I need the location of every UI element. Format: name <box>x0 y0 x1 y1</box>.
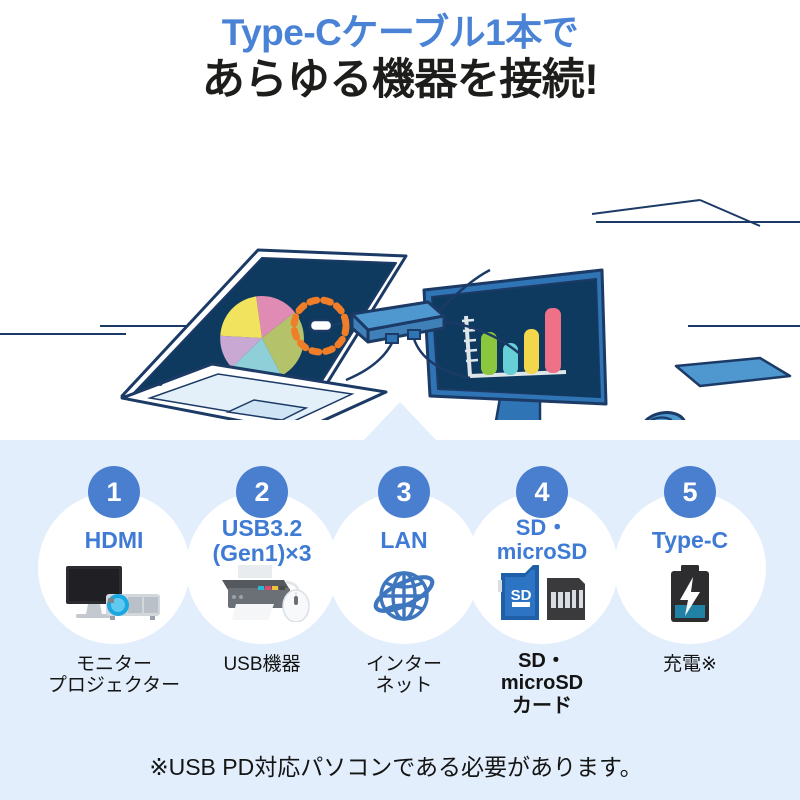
feature-caption-line: 充電※ <box>600 654 780 675</box>
feature-title-line: HDMI <box>38 528 190 553</box>
feature-usb[interactable]: 2 USB3.2 (Gen1)×3 <box>186 466 338 648</box>
sd-microsd-card-icon: SD <box>495 564 589 627</box>
feature-caption-line: microSD <box>452 672 632 694</box>
feature-caption-line: カード <box>452 695 632 717</box>
feature-title-line: SD・ <box>466 516 618 540</box>
feature-title-line: LAN <box>328 528 480 553</box>
feature-number-badge: 4 <box>516 466 568 518</box>
feature-title: USB3.2 (Gen1)×3 <box>186 516 338 566</box>
headline-line-2: あらゆる機器を接続! <box>0 59 800 102</box>
feature-number-badge: 1 <box>88 466 140 518</box>
feature-title: HDMI <box>38 528 190 553</box>
panel-notch-triangle <box>364 402 436 440</box>
printer-mouse-icon <box>212 564 312 627</box>
feature-caption-line: プロジェクター <box>24 675 204 696</box>
globe-network-icon <box>367 564 441 631</box>
feature-number-badge: 3 <box>378 466 430 518</box>
feature-title: SD・ microSD <box>466 516 618 564</box>
battery-charging-icon <box>662 564 718 629</box>
monitor-projector-icon <box>62 564 166 627</box>
feature-number-badge: 5 <box>664 466 716 518</box>
feature-title-line: (Gen1)×3 <box>186 541 338 566</box>
feature-title-line: USB3.2 <box>186 516 338 541</box>
feature-title: Type-C <box>614 528 766 553</box>
feature-lan[interactable]: 3 LAN インター ネット <box>328 466 480 648</box>
footnote-text: ※USB PD対応パソコンである必要があります。 <box>149 754 650 780</box>
feature-caption: 充電※ <box>600 654 780 675</box>
feature-number-badge: 2 <box>236 466 288 518</box>
product-illustration <box>0 130 800 420</box>
headline: Type-Cケーブル1本で あらゆる機器を接続! <box>0 14 800 102</box>
headline-line-1: Type-Cケーブル1本で <box>0 14 800 51</box>
feature-title-line: microSD <box>466 540 618 564</box>
footnote: ※USB PD対応パソコンである必要があります。 <box>0 748 800 782</box>
feature-title-line: Type-C <box>614 528 766 553</box>
feature-sd[interactable]: 4 SD・ microSD SD SD・ microSD カード <box>466 466 618 648</box>
feature-hdmi[interactable]: 1 HDMI モニター プロジェクター <box>38 466 190 648</box>
infographic-page: Type-Cケーブル1本で あらゆる機器を接続! <box>0 0 800 800</box>
feature-type-c[interactable]: 5 Type-C 充電※ <box>614 466 766 648</box>
mouse <box>600 408 689 420</box>
feature-title: LAN <box>328 528 480 553</box>
svg-text:SD: SD <box>511 587 532 604</box>
external-monitor <box>424 270 606 420</box>
